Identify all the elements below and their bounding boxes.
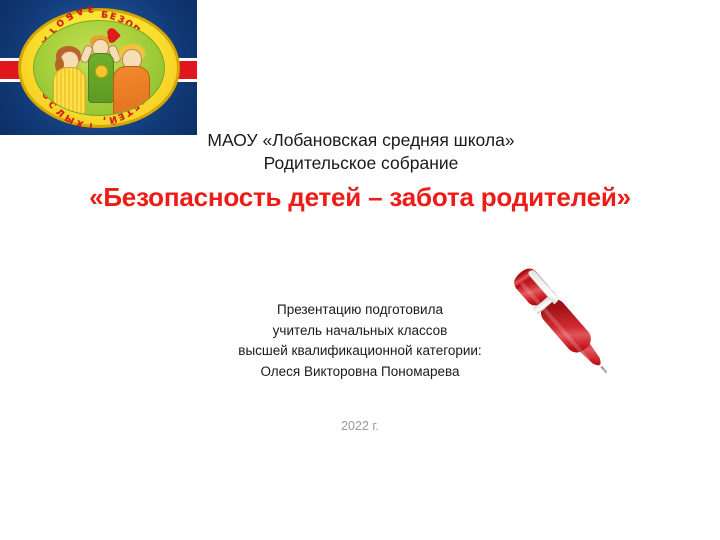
school-safety-emblem-image: БЕЗОПАСНОСТЬДЕТЕЙ,ЗАБОТАВЗРОСЛЫХ! <box>0 0 197 135</box>
emblem-arc-char: О <box>53 16 65 28</box>
father-body <box>113 66 150 116</box>
emblem-arc-char: З <box>87 3 95 13</box>
emblem-green-circle <box>33 20 165 116</box>
year-label: 2022 г. <box>170 419 550 433</box>
meeting-type-line: Родительское собрание <box>196 153 526 174</box>
school-name-line: МАОУ «Лобановская средняя школа» <box>196 130 526 151</box>
red-pen-icon <box>490 238 650 388</box>
presentation-slide: БЕЗОПАСНОСТЬДЕТЕЙ,ЗАБОТАВЗРОСЛЫХ! МАОУ «… <box>0 0 720 540</box>
emblem-yellow-ring: БЕЗОПАСНОСТЬДЕТЕЙ,ЗАБОТАВЗРОСЛЫХ! <box>18 8 180 128</box>
mother-body <box>53 67 86 116</box>
emblem-arc-char: , <box>102 115 106 124</box>
page-title: «Безопасность детей – забота родителей» <box>0 182 720 213</box>
heart-icon <box>108 29 121 42</box>
emblem-arc-char: Б <box>63 9 73 20</box>
child-body <box>88 53 114 103</box>
red-pen-illustration <box>490 238 650 388</box>
child-badge <box>95 65 108 78</box>
